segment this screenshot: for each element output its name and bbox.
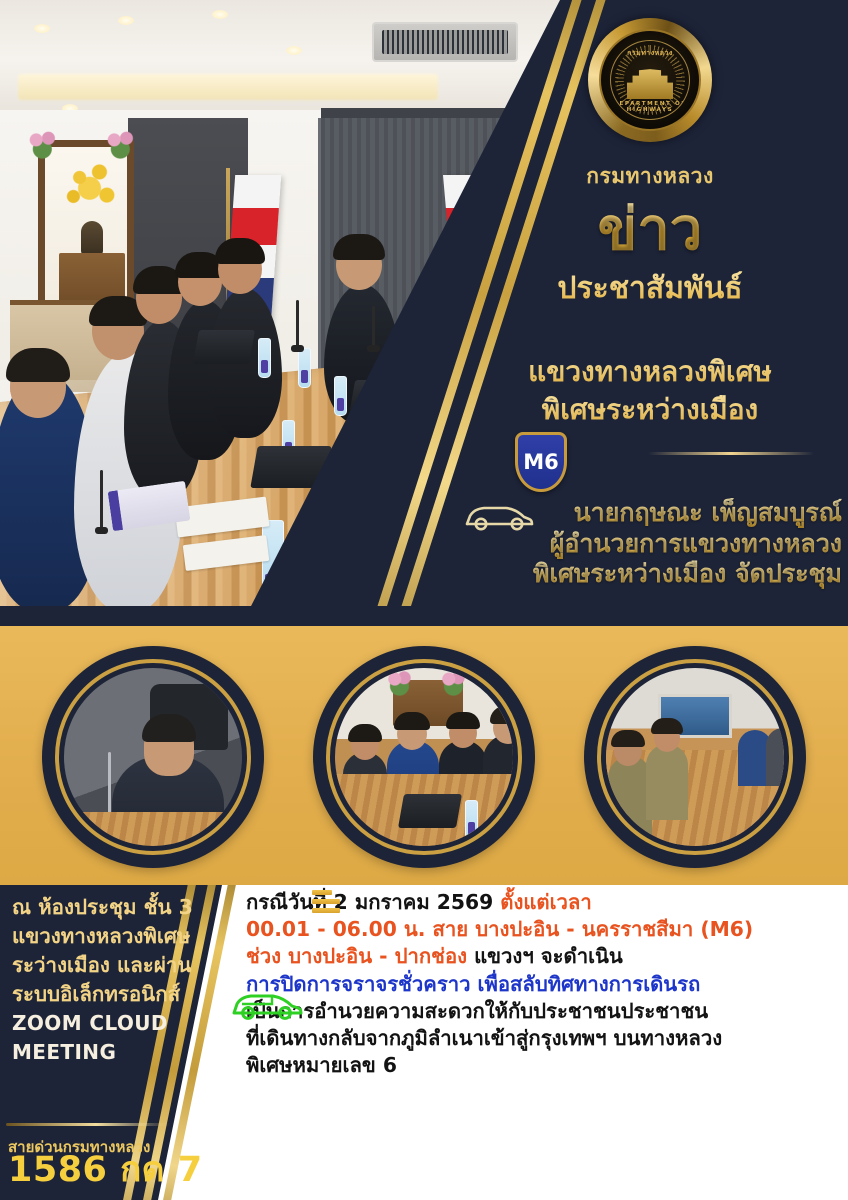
golden-tree-icon [61,157,123,225]
announcement-segment: ที่เดินทางกลับจากภูมิลำเนาเข้าสู่กรุงเทพ… [246,1026,722,1050]
announcement-segment: ตั้งแต่เวลา [500,890,591,914]
announcement-line-7: พิเศษหมายเลข 6 [246,1052,842,1079]
attendee [439,740,487,828]
hotline-number[interactable]: 1586 กด 7 [8,1153,203,1188]
organization-name: กรมทางหลวง [452,160,848,193]
official-line-3: พิเศษระหว่างเมือง จัดประชุม [452,559,842,590]
circular-photo-frame [42,646,264,868]
water-bottle [334,376,347,416]
hamburger-icon [312,890,340,912]
photo-gallery-band [0,626,848,885]
attendee [387,740,439,832]
flower-arrangement-left [26,128,60,162]
announcement-segment: พิเศษหมายเลข 6 [246,1053,397,1077]
buddha-statue [81,221,103,255]
announcement-segment: เป็นการอำนวยความสะดวกให้กับประชาชนประชาช… [246,999,708,1023]
cove-light [18,74,438,100]
seal-text-bottom: DEPARTMENT OF HIGHWAYS [611,101,689,113]
m6-route-badge: M6 [515,432,567,492]
green-car-icon [228,988,304,1022]
buddha-shrine [38,140,134,316]
announcement-segment: 00.01 - 06.00 น. สาย บางปะอิน - นครราชสี… [246,917,753,941]
announcement-text-block: กรณีวันที่ 2 มกราคม 2569 ตั้งแต่เวลา00.0… [246,889,842,1079]
announcement-segment: แขวงฯ จะดำเนิน [474,944,623,968]
announcement-segment: การปิดการจราจรชั่วคราว เพื่อสลับทิศทางกา… [246,972,700,996]
attendee [343,752,387,832]
platform-line-1: ZOOM CLOUD [12,1009,222,1037]
attendee-police [608,756,652,836]
microphone [372,306,375,348]
announcement-line-6: ที่เดินทางกลับจากภูมิลำเนาเข้าสู่กรุงเทพ… [246,1025,842,1052]
circular-photo-frame [313,646,535,868]
official-name-block: นายกฤษณะ เพ็ญสมบูรณ์ ผู้อำนวยการแขวงทางห… [452,498,842,590]
attendee [738,730,772,786]
venue-line-1: ณ ห้องประชุม ชั้น 3 [12,893,222,922]
division-line-2: พิเศษระหว่างเมือง [452,388,848,432]
venue-line-3: ระว่างเมือง และผ่าน [12,951,222,980]
page-subtitle: ประชาสัมพันธ์ [452,265,848,312]
announcement-segment: กรณีวันที่ 2 มกราคม 2569 [246,890,500,914]
announcement-line-4: การปิดการจราจรชั่วคราว เพื่อสลับทิศทางกา… [246,971,842,998]
announcement-segment: ช่วง บางปะอิน - ปากช่อง [246,944,474,968]
microphone [296,300,299,348]
venue-line-2: แขวงทางหลวงพิเศษ [12,922,222,951]
water-bottle [258,338,271,378]
details-section: ณ ห้องประชุม ชั้น 3 แขวงทางหลวงพิเศษ ระว… [0,885,848,1200]
photo-director-speaking [64,668,242,846]
hotline-divider [6,1123,170,1126]
gold-divider [648,452,814,455]
circular-photo-frame [584,646,806,868]
poster-root: กรมทางหลวง DEPARTMENT OF HIGHWAYS กรมทาง… [0,0,848,1200]
video-screen [658,694,732,738]
platform-line-2: MEETING [12,1038,222,1066]
department-of-highways-seal-icon: กรมทางหลวง DEPARTMENT OF HIGHWAYS [588,18,712,142]
photo-conference-room-video [606,668,784,846]
water-bottle [298,348,311,388]
seal-text-top: กรมทางหลวง [611,48,689,59]
photo-staff-table [335,668,513,846]
announcement-line-3: ช่วง บางปะอิน - ปากช่อง แขวงฯ จะดำเนิน [246,943,842,970]
microphone [100,470,103,530]
header-section: กรมทางหลวง DEPARTMENT OF HIGHWAYS กรมทาง… [0,0,848,612]
flower-arrangement-right [104,128,138,162]
attendee [766,728,784,786]
header-text-column: กรมทางหลวง DEPARTMENT OF HIGHWAYS กรมทาง… [452,0,848,612]
announcement-line-2: 00.01 - 06.00 น. สาย บางปะอิน - นครราชสี… [246,916,842,943]
official-line-2: ผู้อำนวยการแขวงทางหลวง [452,529,842,560]
page-title: ข่าว [452,200,848,258]
official-line-1: นายกฤษณะ เพ็ญสมบูรณ์ [452,498,842,529]
attendee-hair [333,234,385,260]
venue-line-4: ระบบอิเล็กทรอนิกส์ [12,980,222,1009]
navy-divider-band [0,606,848,626]
attendee-police [646,744,688,820]
venue-text-block: ณ ห้องประชุม ชั้น 3 แขวงทางหลวงพิเศษ ระว… [12,893,222,1066]
seal-inner: กรมทางหลวง DEPARTMENT OF HIGHWAYS [610,40,690,120]
announcement-line-5: เป็นการอำนวยความสะดวกให้กับประชาชนประชาช… [246,998,842,1025]
laptop [193,330,255,364]
